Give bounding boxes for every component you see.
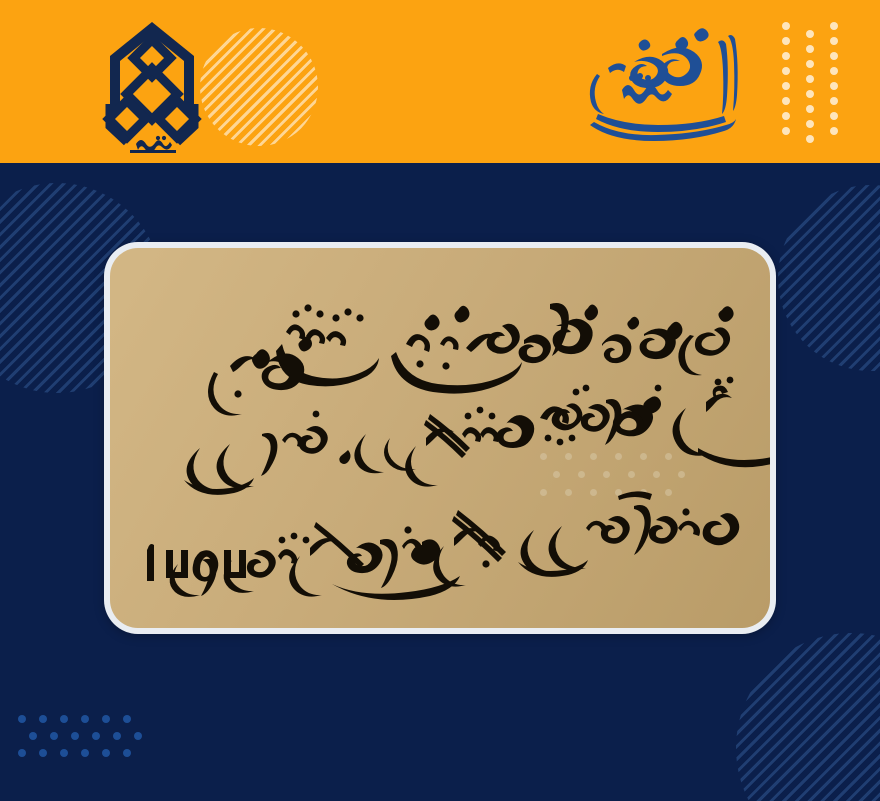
decor-dot: [102, 715, 110, 723]
decor-dot: [60, 749, 68, 757]
striped-circle-top-right-icon: [778, 185, 880, 371]
decor-dot: [830, 112, 838, 120]
decor-dot: [60, 715, 68, 723]
decor-dot: [830, 67, 838, 75]
decor-dot: [782, 112, 790, 120]
decor-dot: [782, 97, 790, 105]
decor-dot: [806, 105, 814, 113]
decor-dot: [830, 22, 838, 30]
decor-dot: [39, 749, 47, 757]
decor-dot: [71, 732, 79, 740]
decor-dot: [782, 127, 790, 135]
striped-circle-icon: [200, 28, 318, 146]
decor-dot: [39, 715, 47, 723]
decor-dot: [102, 749, 110, 757]
decor-dot: [782, 52, 790, 60]
calligraphy-title: [110, 248, 770, 628]
decor-dot: [81, 749, 89, 757]
calligraphy-wordmark-icon: [578, 18, 748, 146]
decor-dot: [806, 135, 814, 143]
decor-dot: [18, 749, 26, 757]
decor-dot: [782, 82, 790, 90]
decor-dot: [830, 127, 838, 135]
decor-dot: [782, 67, 790, 75]
decor-dot: [50, 732, 58, 740]
decor-dot: [806, 30, 814, 38]
poster-header: [0, 0, 880, 165]
decor-dot: [806, 120, 814, 128]
bottom-left-dot-grid-icon: [18, 715, 134, 763]
decor-dot: [123, 749, 131, 757]
decor-dot: [806, 75, 814, 83]
decor-dot: [830, 82, 838, 90]
decor-dot: [123, 715, 131, 723]
decor-dot: [29, 732, 37, 740]
title-card: دستورالعمل بیست و ششمین جشنواره تجلیل از…: [104, 242, 776, 634]
decor-dot: [830, 37, 838, 45]
decor-dot: [782, 22, 790, 30]
decor-dot: [806, 60, 814, 68]
decor-dot: [830, 97, 838, 105]
decor-dot: [830, 52, 838, 60]
decor-dot: [18, 715, 26, 723]
decor-dot: [806, 45, 814, 53]
decor-dot: [782, 37, 790, 45]
decor-dot: [806, 90, 814, 98]
decor-dot: [113, 732, 121, 740]
university-logo: [96, 14, 208, 156]
header-dot-grid-icon: [782, 22, 852, 140]
poster-root: دستورالعمل بیست و ششمین جشنواره تجلیل از…: [0, 0, 880, 801]
striped-circle-bottom-right-icon: [736, 633, 880, 801]
decor-dot: [134, 732, 142, 740]
decor-dot: [81, 715, 89, 723]
decor-dot: [92, 732, 100, 740]
